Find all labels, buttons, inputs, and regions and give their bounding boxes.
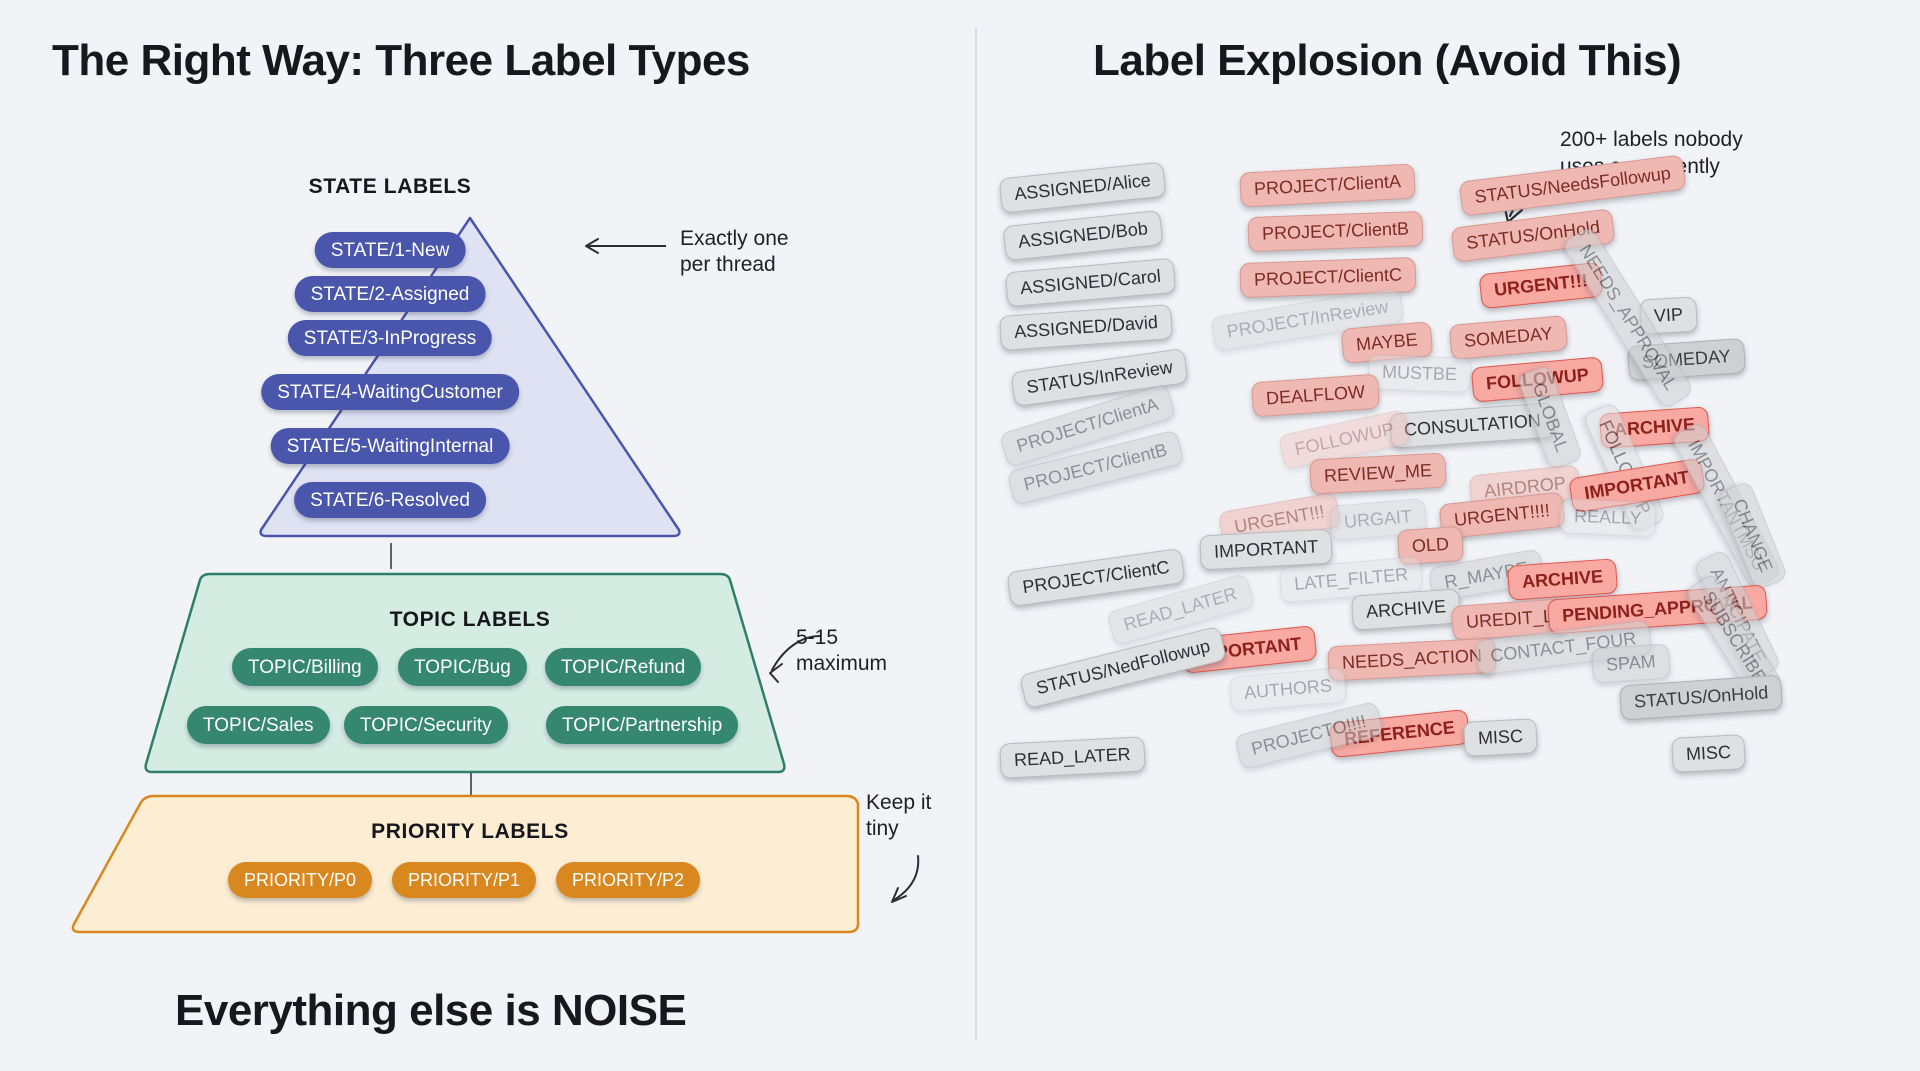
state-pill-5[interactable]: STATE/5-WaitingInternal	[271, 428, 510, 464]
state-tier-title: STATE LABELS	[309, 175, 472, 199]
chaos-label[interactable]: READ_LATER	[999, 736, 1145, 778]
topic-pill-partnership[interactable]: TOPIC/Partnership	[546, 706, 738, 744]
chaos-label[interactable]: SOMEDAY	[1449, 315, 1568, 360]
connector-state-topic	[390, 543, 392, 569]
topic-annotation: 5-15 maximum	[796, 625, 887, 678]
topic-tier-title: TOPIC LABELS	[390, 608, 551, 632]
state-annotation-arrow	[578, 236, 670, 261]
chaos-label[interactable]: PROJECT/ClientA	[1239, 163, 1416, 207]
topic-pill-bug[interactable]: TOPIC/Bug	[398, 648, 527, 686]
chaos-label[interactable]: MUSTBE	[1367, 354, 1471, 392]
priority-pill-p1[interactable]: PRIORITY/P1	[392, 862, 536, 898]
chaos-label[interactable]: ASSIGNED/Alice	[999, 161, 1167, 213]
chaos-label[interactable]: REVIEW_ME	[1309, 452, 1447, 494]
chaos-label[interactable]: STATUS/OnHold	[1619, 674, 1783, 720]
chaos-label[interactable]: ASSIGNED/Carol	[1005, 258, 1176, 307]
noise-footer: Everything else is NOISE	[175, 986, 686, 1036]
chaos-label[interactable]: ARCHIVE	[1351, 588, 1461, 630]
state-pill-3[interactable]: STATE/3-InProgress	[288, 320, 492, 356]
chaos-label[interactable]: REALLY	[1559, 498, 1656, 536]
priority-annotation: Keep it tiny	[866, 790, 931, 843]
topic-pill-security[interactable]: TOPIC/Security	[344, 706, 508, 744]
chaos-label[interactable]: MISC	[1671, 734, 1746, 773]
panel-divider	[975, 28, 977, 1040]
left-panel-title: The Right Way: Three Label Types	[52, 36, 750, 86]
chaos-label[interactable]: MISC	[1463, 718, 1538, 757]
chaos-label[interactable]: ASSIGNED/Bob	[1003, 210, 1164, 261]
chaos-label[interactable]: ARCHIVE	[1507, 558, 1618, 600]
topic-pill-sales[interactable]: TOPIC/Sales	[187, 706, 330, 744]
chaos-label[interactable]: PROJECT/ClientB	[1247, 211, 1423, 252]
chaos-label[interactable]: SPAM	[1591, 643, 1671, 683]
priority-annotation-arrow	[872, 852, 932, 917]
chaos-label[interactable]: NEEDS_ACTION	[1327, 638, 1497, 682]
state-pill-4[interactable]: STATE/4-WaitingCustomer	[261, 374, 519, 410]
chaos-label[interactable]: ASSIGNED/David	[999, 304, 1173, 351]
topic-pill-billing[interactable]: TOPIC/Billing	[232, 648, 378, 686]
state-annotation: Exactly one per thread	[680, 226, 789, 279]
state-pill-1[interactable]: STATE/1-New	[315, 232, 466, 268]
state-pill-6[interactable]: STATE/6-Resolved	[294, 482, 486, 518]
priority-pill-p0[interactable]: PRIORITY/P0	[228, 862, 372, 898]
chaos-label[interactable]: IMPORTANT	[1199, 529, 1333, 571]
priority-pill-p2[interactable]: PRIORITY/P2	[556, 862, 700, 898]
chaos-label[interactable]: STATUS/NeedsFollowup	[1459, 154, 1687, 216]
chaos-label[interactable]: AUTHORS	[1229, 667, 1348, 712]
chaos-label[interactable]: DEALFLOW	[1251, 374, 1380, 418]
state-pill-2[interactable]: STATE/2-Assigned	[295, 276, 486, 312]
chaos-label[interactable]: PROJECTO!!!!	[1234, 701, 1384, 770]
priority-tier-title: PRIORITY LABELS	[371, 820, 569, 844]
label-explosion-cluster: ASSIGNED/AliceASSIGNED/BobASSIGNED/Carol…	[1000, 150, 1920, 950]
topic-pill-refund[interactable]: TOPIC/Refund	[545, 648, 701, 686]
right-panel-title: Label Explosion (Avoid This)	[1093, 36, 1681, 86]
